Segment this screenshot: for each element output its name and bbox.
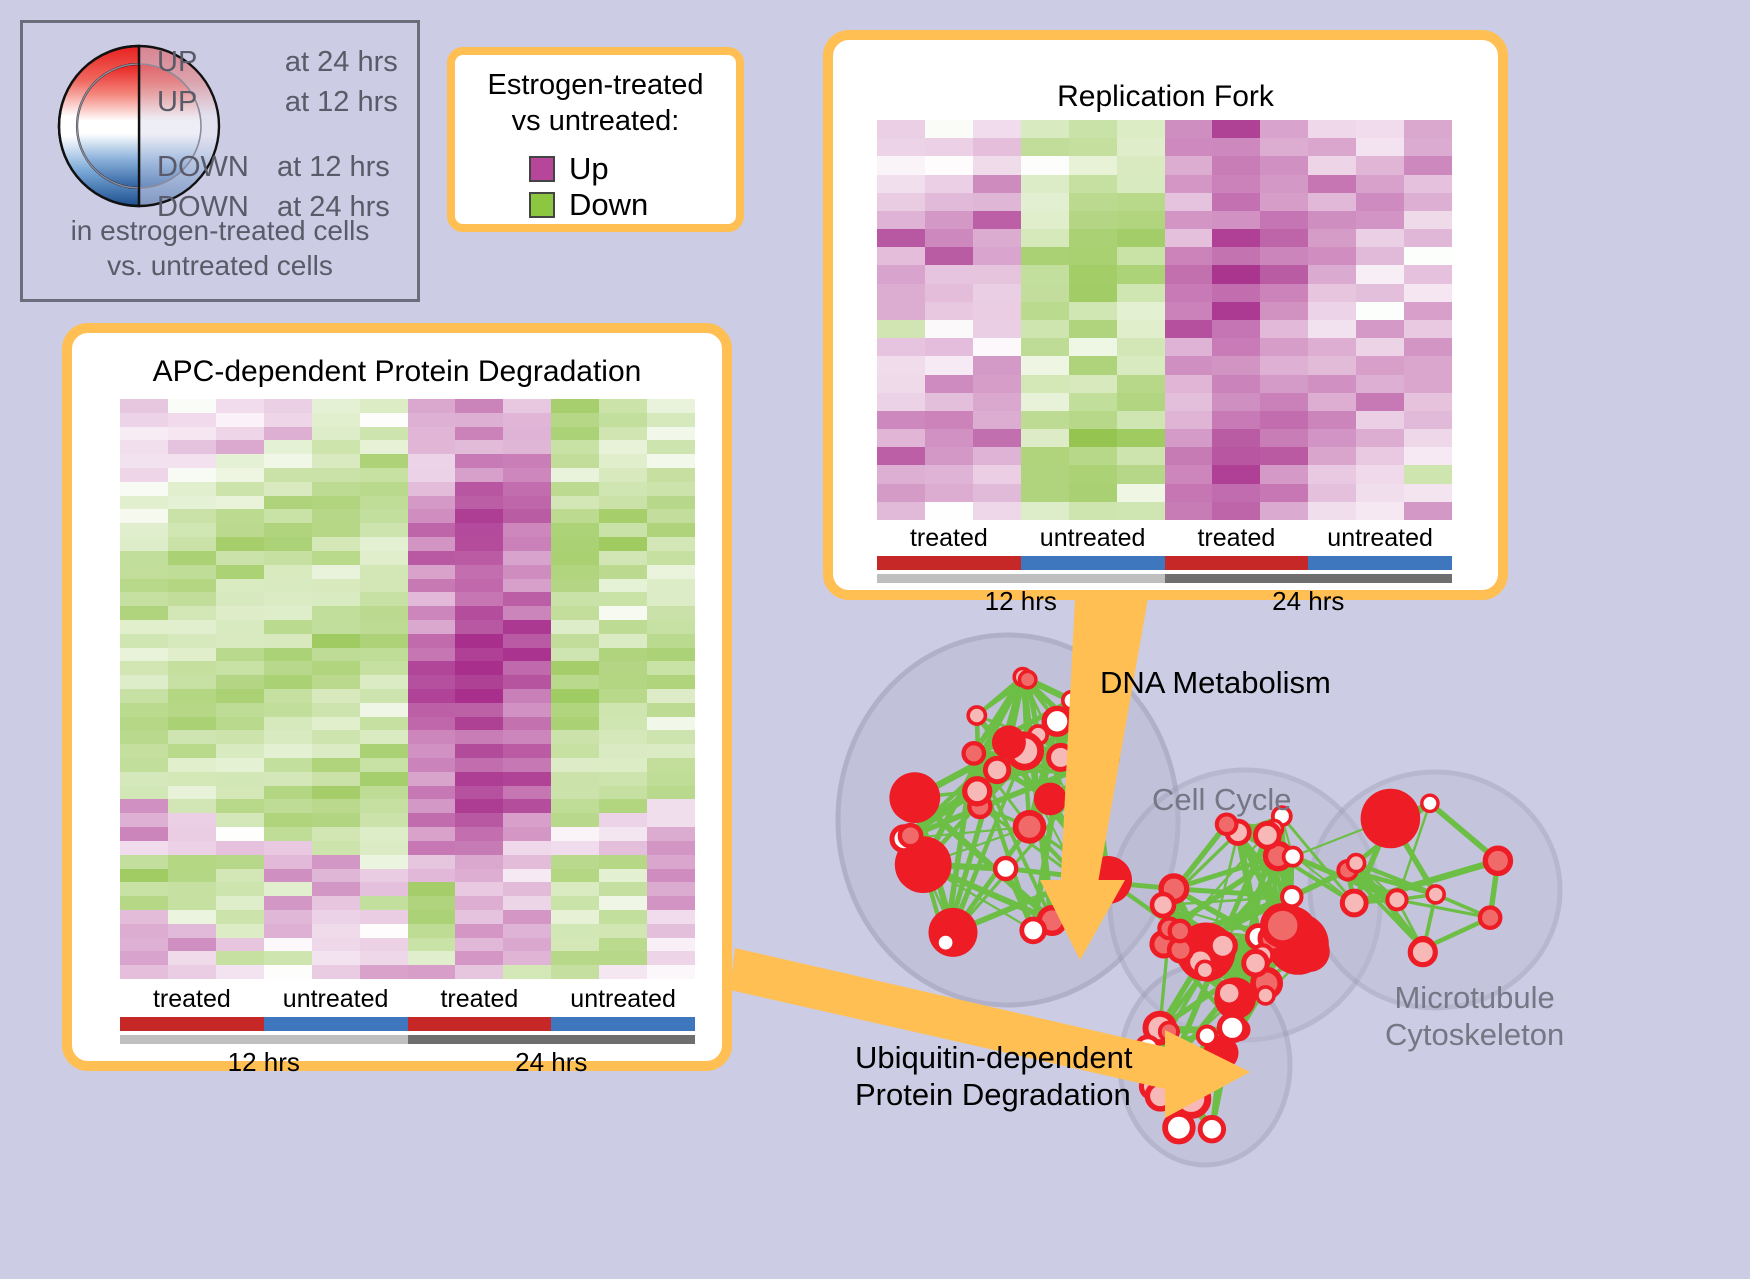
heatmap-cell bbox=[647, 537, 695, 551]
heatmap-cell bbox=[1260, 411, 1308, 429]
heatmap-cell bbox=[551, 579, 599, 593]
heatmap-cell bbox=[1069, 411, 1117, 429]
heatmap-cell bbox=[264, 841, 312, 855]
heatmap-cell bbox=[1212, 465, 1260, 483]
heatmap-cell bbox=[1212, 484, 1260, 502]
heatmap-cell bbox=[216, 675, 264, 689]
heatmap-cell bbox=[168, 496, 216, 510]
heatmap-cell bbox=[168, 799, 216, 813]
heatmap-cell bbox=[168, 882, 216, 896]
heatmap-cell bbox=[408, 454, 456, 468]
heatmap-cell bbox=[1308, 211, 1356, 229]
heatmap-cell bbox=[216, 910, 264, 924]
heatmap-cell bbox=[1021, 338, 1069, 356]
heatmap-cell bbox=[1117, 465, 1165, 483]
heatmap-cell bbox=[1165, 138, 1213, 156]
network-node bbox=[900, 825, 921, 846]
heatmap-cell bbox=[1260, 356, 1308, 374]
heatmap-cell bbox=[264, 592, 312, 606]
heatmap-cell bbox=[168, 537, 216, 551]
heatmap-cell bbox=[503, 965, 551, 979]
heatmap-cell bbox=[408, 855, 456, 869]
heatmap-cell bbox=[1260, 193, 1308, 211]
heatmap-cell bbox=[1404, 156, 1452, 174]
heatmap-cell bbox=[408, 565, 456, 579]
heatmap-cell bbox=[877, 120, 925, 138]
network-node bbox=[1244, 951, 1268, 975]
heatmap-cell bbox=[551, 634, 599, 648]
heatmap-cell bbox=[1260, 447, 1308, 465]
heatmap-cell bbox=[360, 399, 408, 413]
heatmap-cell bbox=[120, 758, 168, 772]
heatmap-cell bbox=[455, 951, 503, 965]
network-node bbox=[937, 934, 954, 951]
heatmap-cell bbox=[360, 965, 408, 979]
panel-apc-degradation: APC-dependent Protein Degradation treate… bbox=[62, 323, 732, 1071]
heatmap-cell bbox=[647, 565, 695, 579]
heatmap-cell bbox=[599, 758, 647, 772]
network-node bbox=[1147, 1083, 1173, 1109]
network-node bbox=[1085, 763, 1104, 782]
heatmap-cell bbox=[360, 496, 408, 510]
network-label-dna-metabolism: DNA Metabolism bbox=[1100, 665, 1331, 702]
heatmap-cell bbox=[455, 634, 503, 648]
heatmap-cell bbox=[551, 399, 599, 413]
heatmap-cell bbox=[216, 938, 264, 952]
heatmap-cell bbox=[408, 523, 456, 537]
network-node bbox=[1264, 907, 1301, 944]
network-label-microtubule-cytoskeleton: Microtubule Cytoskeleton bbox=[1385, 980, 1564, 1053]
network-node bbox=[1200, 1118, 1223, 1141]
heatmap-cell bbox=[168, 924, 216, 938]
heatmap-cell bbox=[925, 447, 973, 465]
heatmap-cell bbox=[1212, 411, 1260, 429]
heatmap-cell bbox=[1308, 175, 1356, 193]
heatmap-cell bbox=[120, 703, 168, 717]
heatmap-cell bbox=[1117, 265, 1165, 283]
time-bar bbox=[408, 1035, 696, 1044]
heatmap-cell bbox=[503, 454, 551, 468]
heatmap-cell bbox=[1117, 175, 1165, 193]
heatmap-cell bbox=[503, 413, 551, 427]
heatmap-cell bbox=[312, 413, 360, 427]
heatmap-cell bbox=[408, 620, 456, 634]
heatmap-cell bbox=[551, 523, 599, 537]
heatmap-cell bbox=[925, 229, 973, 247]
heatmap-cell bbox=[408, 579, 456, 593]
heatmap-cell bbox=[503, 551, 551, 565]
heatmap-cell bbox=[216, 620, 264, 634]
heatmap-cell bbox=[551, 938, 599, 952]
heatmap-cell bbox=[360, 730, 408, 744]
network-node bbox=[1084, 856, 1132, 904]
heatmap-cell bbox=[216, 799, 264, 813]
heatmap-cell bbox=[1021, 247, 1069, 265]
heatmap-cell bbox=[1069, 193, 1117, 211]
heatmap-cell bbox=[264, 440, 312, 454]
heatmap-cell bbox=[408, 592, 456, 606]
heatmap-cell bbox=[408, 772, 456, 786]
heatmap-cell bbox=[216, 413, 264, 427]
network-node bbox=[992, 725, 1026, 759]
heatmap-cell bbox=[264, 717, 312, 731]
network-node bbox=[1049, 745, 1073, 769]
treatment-bar bbox=[551, 1017, 695, 1031]
heatmap-cell bbox=[312, 758, 360, 772]
heatmap-cell bbox=[599, 938, 647, 952]
heatmap-cell bbox=[1021, 156, 1069, 174]
network-node bbox=[1044, 708, 1070, 734]
heatmap-cell bbox=[1021, 211, 1069, 229]
heatmap-cell bbox=[1117, 320, 1165, 338]
heatmap-cell bbox=[168, 413, 216, 427]
heatmap-cell bbox=[599, 730, 647, 744]
heatmap-cell bbox=[1165, 247, 1213, 265]
heatmap-cell bbox=[647, 730, 695, 744]
heatmap-apc-degradation bbox=[120, 399, 695, 979]
heatmap-cell bbox=[1308, 411, 1356, 429]
heatmap-cell bbox=[599, 951, 647, 965]
heatmap-cell bbox=[120, 717, 168, 731]
heatmap-cell bbox=[647, 440, 695, 454]
heatmap-cell bbox=[120, 454, 168, 468]
heatmap-cell bbox=[408, 965, 456, 979]
heatmap-cell bbox=[503, 938, 551, 952]
heatmap-cell bbox=[1212, 265, 1260, 283]
heatmap-cell bbox=[551, 592, 599, 606]
heatmap-cell bbox=[455, 744, 503, 758]
heatmap-cell bbox=[120, 634, 168, 648]
heatmap-cell bbox=[1021, 375, 1069, 393]
heatmap-cell bbox=[925, 193, 973, 211]
heatmap-cell bbox=[1069, 447, 1117, 465]
heatmap-cell bbox=[551, 675, 599, 689]
heatmap-cell bbox=[599, 744, 647, 758]
network-node bbox=[1016, 813, 1044, 841]
heatmap-cell bbox=[925, 284, 973, 302]
heatmap-cell bbox=[1117, 447, 1165, 465]
heatmap-cell bbox=[1308, 265, 1356, 283]
heatmap-cell bbox=[1165, 375, 1213, 393]
heatmap-cell bbox=[1308, 393, 1356, 411]
heatmap-cell bbox=[1260, 175, 1308, 193]
heatmap-cell bbox=[1212, 120, 1260, 138]
network-node bbox=[1410, 940, 1435, 965]
heatmap-cell bbox=[120, 427, 168, 441]
heatmap-cell bbox=[877, 193, 925, 211]
heatmap-cell bbox=[168, 454, 216, 468]
heatmap-cell bbox=[503, 689, 551, 703]
heatmap-cell bbox=[216, 551, 264, 565]
heatmap-cell bbox=[408, 482, 456, 496]
heatmap-cell bbox=[1308, 338, 1356, 356]
heatmap-cell bbox=[360, 413, 408, 427]
heatmap-cell bbox=[1356, 265, 1404, 283]
heatmap-cell bbox=[1212, 284, 1260, 302]
heatmap-cell bbox=[455, 799, 503, 813]
heatmap-cell bbox=[264, 454, 312, 468]
heatmap-cell bbox=[1404, 465, 1452, 483]
heatmap-cell bbox=[216, 440, 264, 454]
heatmap-cell bbox=[1212, 138, 1260, 156]
heatmap-cell bbox=[877, 211, 925, 229]
heatmap-cell bbox=[1356, 356, 1404, 374]
heatmap-cell bbox=[120, 799, 168, 813]
heatmap-cell bbox=[216, 496, 264, 510]
heatmap-cell bbox=[216, 786, 264, 800]
heatmap-cell bbox=[1021, 138, 1069, 156]
annotations-replication-fork: treateduntreatedtreateduntreated 12 hrs2… bbox=[877, 524, 1452, 614]
heatmap-cell bbox=[1069, 120, 1117, 138]
heatmap-cell bbox=[503, 482, 551, 496]
heatmap-cell bbox=[973, 284, 1021, 302]
heatmap-cell bbox=[647, 551, 695, 565]
heatmap-cell bbox=[503, 523, 551, 537]
heatmap-cell bbox=[647, 413, 695, 427]
heatmap-cell bbox=[455, 827, 503, 841]
time-bars-replication bbox=[877, 574, 1452, 583]
heatmap-cell bbox=[647, 620, 695, 634]
heatmap-cell bbox=[408, 648, 456, 662]
heatmap-cell bbox=[216, 758, 264, 772]
network-node bbox=[1485, 848, 1510, 873]
heatmap-cell bbox=[877, 375, 925, 393]
heatmap-cell bbox=[1165, 338, 1213, 356]
heatmap-cell bbox=[925, 502, 973, 520]
heatmap-cell bbox=[599, 399, 647, 413]
heatmap-cell bbox=[973, 120, 1021, 138]
heatmap-cell bbox=[1117, 193, 1165, 211]
heatmap-cell bbox=[312, 813, 360, 827]
heatmap-cell bbox=[1069, 265, 1117, 283]
heatmap-cell bbox=[647, 523, 695, 537]
heatmap-cell bbox=[1308, 302, 1356, 320]
treatment-label: treated bbox=[120, 985, 264, 1014]
heatmap-cell bbox=[1356, 302, 1404, 320]
heatmap-cell bbox=[1260, 211, 1308, 229]
heatmap-cell bbox=[647, 965, 695, 979]
heatmap-cell bbox=[551, 482, 599, 496]
heatmap-cell bbox=[551, 537, 599, 551]
heatmap-cell bbox=[1165, 265, 1213, 283]
heatmap-cell bbox=[1308, 465, 1356, 483]
heatmap-cell bbox=[551, 703, 599, 717]
heatmap-cell bbox=[647, 869, 695, 883]
heatmap-cell bbox=[312, 744, 360, 758]
heatmap-cell bbox=[1260, 120, 1308, 138]
heatmap-cell bbox=[1308, 284, 1356, 302]
heatmap-cell bbox=[599, 523, 647, 537]
heatmap-cell bbox=[1069, 284, 1117, 302]
heatmap-cell bbox=[599, 620, 647, 634]
heatmap-cell bbox=[647, 758, 695, 772]
heatmap-cell bbox=[455, 413, 503, 427]
network-node bbox=[1198, 1027, 1216, 1045]
time-labels-apc: 12 hrs24 hrs bbox=[120, 1047, 695, 1078]
heatmap-cell bbox=[551, 951, 599, 965]
network-node bbox=[1256, 823, 1280, 847]
heatmap-cell bbox=[647, 427, 695, 441]
heatmap-cell bbox=[973, 247, 1021, 265]
heatmap-cell bbox=[551, 565, 599, 579]
heatmap-cell bbox=[973, 393, 1021, 411]
heatmap-cell bbox=[503, 661, 551, 675]
heatmap-cell bbox=[973, 411, 1021, 429]
heatmap-cell bbox=[1165, 484, 1213, 502]
heatmap-cell bbox=[551, 648, 599, 662]
heatmap-cell bbox=[925, 247, 973, 265]
heatmap-cell bbox=[455, 730, 503, 744]
heatmap-cell bbox=[312, 468, 360, 482]
heatmap-cell bbox=[408, 606, 456, 620]
heatmap-cell bbox=[1308, 375, 1356, 393]
heatmap-cell bbox=[312, 827, 360, 841]
heatmap-cell bbox=[1356, 375, 1404, 393]
heatmap-cell bbox=[216, 689, 264, 703]
heatmap-cell bbox=[647, 896, 695, 910]
heatmap-cell bbox=[925, 156, 973, 174]
heatmap-cell bbox=[455, 482, 503, 496]
heatmap-cell bbox=[503, 924, 551, 938]
heatmap-cell bbox=[551, 551, 599, 565]
heatmap-cell bbox=[360, 648, 408, 662]
heatmap-cell bbox=[360, 661, 408, 675]
network-node bbox=[1034, 783, 1067, 816]
heatmap-cell bbox=[120, 537, 168, 551]
heatmap-cell bbox=[216, 537, 264, 551]
heatmap-cell bbox=[503, 579, 551, 593]
heatmap-cell bbox=[455, 427, 503, 441]
heatmap-cell bbox=[168, 579, 216, 593]
heatmap-cell bbox=[647, 841, 695, 855]
heatmap-cell bbox=[120, 841, 168, 855]
heatmap-cell bbox=[360, 717, 408, 731]
heatmap-cell bbox=[360, 855, 408, 869]
heatmap-cell bbox=[168, 855, 216, 869]
heatmap-cell bbox=[1212, 320, 1260, 338]
heatmap-cell bbox=[312, 620, 360, 634]
treatment-bar bbox=[877, 556, 1021, 570]
heatmap-cell bbox=[312, 565, 360, 579]
network-node bbox=[1427, 886, 1444, 903]
heatmap-cell bbox=[168, 730, 216, 744]
heatmap-cell bbox=[1165, 211, 1213, 229]
time-bars-apc bbox=[120, 1035, 695, 1044]
heatmap-cell bbox=[455, 758, 503, 772]
heatmap-cell bbox=[599, 882, 647, 896]
heatmap-cell bbox=[168, 482, 216, 496]
heatmap-cell bbox=[1165, 356, 1213, 374]
heatmap-cell bbox=[168, 813, 216, 827]
heatmap-cell bbox=[455, 896, 503, 910]
treatment-label: treated bbox=[408, 985, 552, 1014]
heatmap-cell bbox=[877, 338, 925, 356]
heatmap-cell bbox=[216, 813, 264, 827]
treatment-bar bbox=[120, 1017, 264, 1031]
network-node bbox=[1196, 961, 1213, 978]
heatmap-cell bbox=[599, 454, 647, 468]
heatmap-cell bbox=[551, 882, 599, 896]
heatmap-cell bbox=[408, 951, 456, 965]
heatmap-cell bbox=[360, 551, 408, 565]
heatmap-replication-fork bbox=[877, 120, 1452, 520]
heatmap-cell bbox=[455, 565, 503, 579]
heatmap-cell bbox=[1069, 320, 1117, 338]
heatmap-cell bbox=[647, 634, 695, 648]
heatmap-cell bbox=[1069, 302, 1117, 320]
heatmap-cell bbox=[312, 717, 360, 731]
treatment-bar bbox=[264, 1017, 408, 1031]
heatmap-cell bbox=[264, 896, 312, 910]
network-node bbox=[964, 743, 984, 763]
heatmap-cell bbox=[1165, 502, 1213, 520]
heatmap-cell bbox=[503, 744, 551, 758]
heatmap-cell bbox=[1260, 247, 1308, 265]
heatmap-cell bbox=[264, 689, 312, 703]
heatmap-cell bbox=[168, 689, 216, 703]
heatmap-cell bbox=[551, 468, 599, 482]
network-label-cell-cycle: Cell Cycle bbox=[1152, 782, 1292, 819]
heatmap-cell bbox=[168, 509, 216, 523]
network-node bbox=[1387, 890, 1406, 909]
network-label-ubiquitin-protein-degradation: Ubiquitin-dependent Protein Degradation bbox=[855, 1040, 1133, 1113]
heatmap-cell bbox=[216, 924, 264, 938]
treatment-label: untreated bbox=[551, 985, 695, 1014]
heatmap-cell bbox=[1308, 193, 1356, 211]
heatmap-cell bbox=[1069, 429, 1117, 447]
heatmap-cell bbox=[925, 356, 973, 374]
heatmap-cell bbox=[1021, 465, 1069, 483]
heatmap-cell bbox=[120, 896, 168, 910]
heatmap-cell bbox=[312, 855, 360, 869]
heatmap-cell bbox=[599, 634, 647, 648]
heatmap-cell bbox=[168, 896, 216, 910]
heatmap-cell bbox=[1356, 284, 1404, 302]
network-node bbox=[1257, 987, 1274, 1004]
heatmap-cell bbox=[1117, 156, 1165, 174]
treatment-bars-replication bbox=[877, 556, 1452, 570]
heatmap-cell bbox=[1356, 411, 1404, 429]
heatmap-cell bbox=[503, 675, 551, 689]
heatmap-cell bbox=[455, 841, 503, 855]
heatmap-cell bbox=[503, 565, 551, 579]
heatmap-cell bbox=[1260, 393, 1308, 411]
heatmap-cell bbox=[647, 813, 695, 827]
heatmap-cell bbox=[264, 813, 312, 827]
heatmap-cell bbox=[1117, 138, 1165, 156]
heatmap-cell bbox=[120, 565, 168, 579]
heatmap-cell bbox=[120, 482, 168, 496]
heatmap-cell bbox=[168, 938, 216, 952]
heatmap-cell bbox=[503, 648, 551, 662]
heatmap-cell bbox=[216, 896, 264, 910]
heatmap-cell bbox=[312, 634, 360, 648]
heatmap-cell bbox=[1356, 320, 1404, 338]
heatmap-cell bbox=[973, 465, 1021, 483]
heatmap-cell bbox=[312, 882, 360, 896]
heatmap-cell bbox=[216, 634, 264, 648]
heatmap-cell bbox=[168, 675, 216, 689]
heatmap-cell bbox=[1069, 465, 1117, 483]
heatmap-cell bbox=[216, 454, 264, 468]
heatmap-cell bbox=[1117, 338, 1165, 356]
heatmap-cell bbox=[599, 896, 647, 910]
heatmap-cell bbox=[973, 211, 1021, 229]
heatmap-cell bbox=[1356, 247, 1404, 265]
heatmap-cell bbox=[455, 965, 503, 979]
heatmap-cell bbox=[312, 551, 360, 565]
heatmap-cell bbox=[312, 648, 360, 662]
